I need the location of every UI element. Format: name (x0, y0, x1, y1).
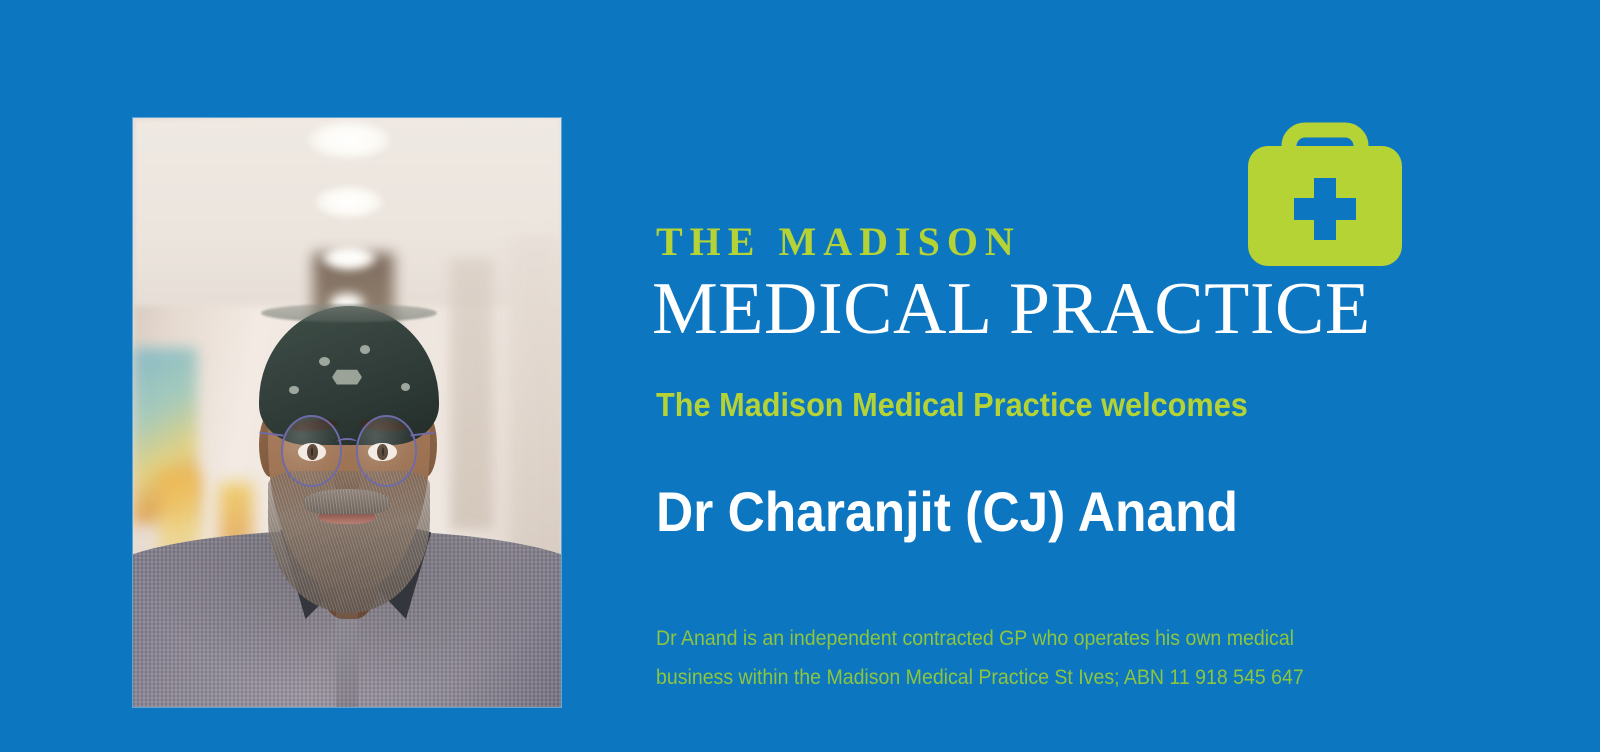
glasses-lens-left (281, 415, 343, 487)
surgical-cap-band (261, 304, 436, 323)
cap-pattern-emblem (332, 368, 362, 386)
moustache (304, 489, 390, 515)
text-content: THE MADISON MEDICAL PRACTICE The Madison… (656, 0, 1416, 752)
cap-pattern-dot (360, 345, 370, 354)
logo-line-medical-practice: MEDICAL PRACTICE (652, 272, 1371, 346)
disclaimer-text: Dr Anand is an independent contracted GP… (656, 620, 1363, 698)
glasses-lens-right (356, 415, 418, 487)
welcome-headline: The Madison Medical Practice welcomes (656, 387, 1248, 423)
welcome-banner: THE MADISON MEDICAL PRACTICE The Madison… (0, 0, 1600, 752)
disclaimer-line-1: Dr Anand is an independent contracted GP… (656, 620, 1363, 659)
disclaimer-line-2: business within the Madison Medical Prac… (656, 659, 1363, 698)
doctor-portrait-photo (133, 118, 561, 707)
glasses-bridge (337, 438, 358, 446)
cap-pattern-dot (289, 386, 298, 394)
doctor-figure (133, 118, 561, 707)
doctor-name-heading: Dr Charanjit (CJ) Anand (656, 483, 1238, 542)
logo-line-the-madison: THE MADISON (656, 222, 1021, 262)
